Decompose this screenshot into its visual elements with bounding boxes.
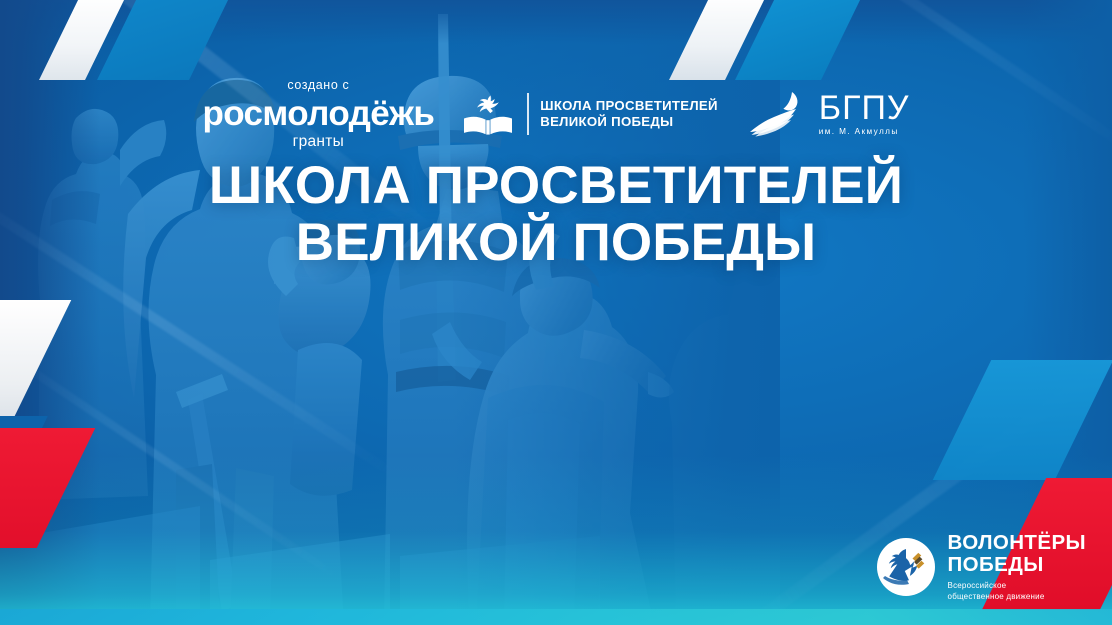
bgpu-logo: БГПУ им. М. Акмуллы (748, 89, 910, 139)
bgpu-named-after: им. М. Акмуллы (819, 128, 910, 136)
school-logo-name: ШКОЛА ПРОСВЕТИТЕЛЕЙ ВЕЛИКОЙ ПОБЕДЫ (540, 98, 718, 130)
rosmolodezh-program-label: гранты (293, 134, 345, 150)
school-logo: ШКОЛА ПРОСВЕТИТЕЛЕЙ ВЕЛИКОЙ ПОБЕДЫ (460, 86, 718, 142)
school-logo-divider (527, 93, 529, 135)
rosmolodezh-grants-logo: создано с росмолодёжь гранты (202, 79, 434, 149)
volunteers-tagline: Всероссийское общественное движение (948, 581, 1086, 603)
volunteers-of-victory-logo: ВОЛОНТЁРЫ ПОБЕДЫ Всероссийское обществен… (875, 532, 1086, 604)
volunteers-text-block: ВОЛОНТЁРЫ ПОБЕДЫ Всероссийское обществен… (948, 532, 1086, 604)
bottom-accent-strip (0, 609, 1112, 625)
rosmolodezh-wordmark: росмолодёжь (202, 96, 434, 131)
bgpu-text-block: БГПУ им. М. Акмуллы (819, 91, 910, 136)
slide-canvas: создано с росмолодёжь гранты ШКОЛА ПРОС (0, 0, 1112, 625)
volunteers-name: ВОЛОНТЁРЫ ПОБЕДЫ (948, 532, 1086, 578)
decor-left-flag-bars (0, 300, 142, 625)
rosmolodezh-created-with-label: создано с (287, 79, 349, 92)
slide-title: ШКОЛА ПРОСВЕТИТЕЛЕЙ ВЕЛИКОЙ ПОБЕДЫ (0, 158, 1112, 271)
bgpu-abbreviation: БГПУ (819, 91, 910, 125)
dove-over-open-book-icon (460, 86, 516, 142)
partner-logo-row: создано с росмолодёжь гранты ШКОЛА ПРОС (0, 74, 1112, 154)
bgpu-wave-flame-icon (748, 89, 810, 139)
dove-with-ribbon-circle-icon (875, 536, 937, 598)
